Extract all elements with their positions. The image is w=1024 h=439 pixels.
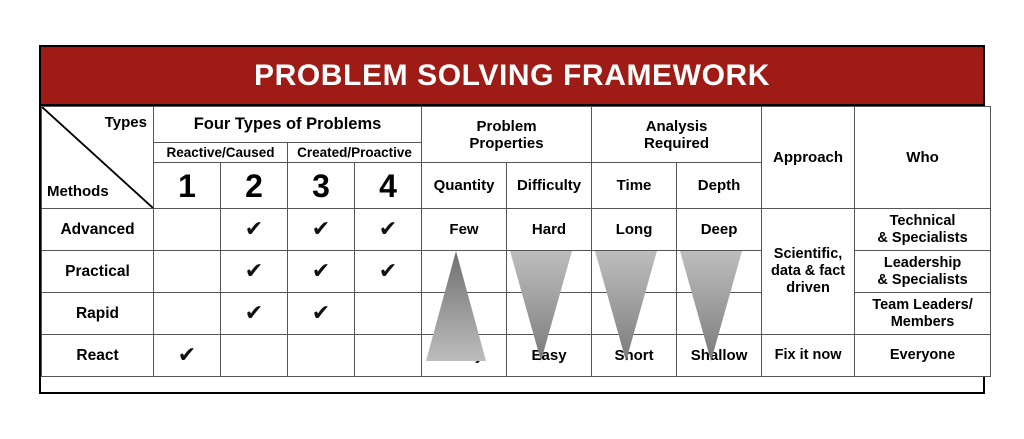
who-line1: Everyone xyxy=(855,347,990,364)
column-header-approach: Approach xyxy=(762,107,855,209)
approach-merged-cell: Scientific, data & fact driven xyxy=(762,209,855,335)
cell-practical-type2: ✔ xyxy=(221,251,288,293)
corner-types-label: Types xyxy=(105,114,147,131)
band-reactive-caused: Reactive/Caused xyxy=(154,143,288,163)
cell-advanced-type1 xyxy=(154,209,221,251)
framework-grid: Types Methods Four Types of Problems Pro… xyxy=(41,106,991,377)
cell-react-type4 xyxy=(355,335,422,377)
who-line1: Technical xyxy=(855,213,990,230)
group-header-four-types: Four Types of Problems xyxy=(154,107,422,143)
cell-react-type1: ✔ xyxy=(154,335,221,377)
who-line1: Leadership xyxy=(855,255,990,272)
row-label-react: React xyxy=(42,335,154,377)
band-created-proactive: Created/Proactive xyxy=(288,143,422,163)
framework-title-bar: PROBLEM SOLVING FRAMEWORK xyxy=(41,47,983,106)
who-practical: Leadership & Specialists xyxy=(855,251,991,293)
scale-low-difficulty xyxy=(507,293,592,335)
problem-solving-framework-table: PROBLEM SOLVING FRAMEWORK Types Methods … xyxy=(39,45,985,394)
check-icon: ✔ xyxy=(245,301,263,326)
cell-advanced-type3: ✔ xyxy=(288,209,355,251)
who-line1: Team Leaders/ xyxy=(855,297,990,314)
cell-advanced-type4: ✔ xyxy=(355,209,422,251)
cell-rapid-type1 xyxy=(154,293,221,335)
cell-practical-type1 xyxy=(154,251,221,293)
approach-line3: driven xyxy=(762,280,854,297)
column-header-depth: Depth xyxy=(677,163,762,209)
cell-practical-type3: ✔ xyxy=(288,251,355,293)
cell-react-type2 xyxy=(221,335,288,377)
scale-mid-depth xyxy=(677,251,762,293)
check-icon: ✔ xyxy=(379,217,397,242)
approach-line2: data & fact xyxy=(762,263,854,280)
scale-top-time: Long xyxy=(592,209,677,251)
cell-react-type3 xyxy=(288,335,355,377)
problem-type-3: 3 xyxy=(288,163,355,209)
who-line2: Members xyxy=(855,314,990,331)
cell-practical-type4: ✔ xyxy=(355,251,422,293)
analysis-required-line1: Analysis xyxy=(592,118,761,135)
check-icon: ✔ xyxy=(312,217,330,242)
column-header-who: Who xyxy=(855,107,991,209)
check-icon: ✔ xyxy=(245,217,263,242)
header-group-row: Types Methods Four Types of Problems Pro… xyxy=(42,107,991,143)
table-row: React ✔ Many Easy Short Shallow Fix it n… xyxy=(42,335,991,377)
cell-advanced-type2: ✔ xyxy=(221,209,288,251)
scale-top-difficulty: Hard xyxy=(507,209,592,251)
analysis-required-line2: Required xyxy=(592,135,761,152)
scale-mid-time xyxy=(592,251,677,293)
group-header-problem-properties: Problem Properties xyxy=(422,107,592,163)
column-header-quantity: Quantity xyxy=(422,163,507,209)
column-header-time: Time xyxy=(592,163,677,209)
who-react: Everyone xyxy=(855,335,991,377)
scale-bottom-quantity: Many xyxy=(422,335,507,377)
scale-low-time xyxy=(592,293,677,335)
row-label-advanced: Advanced xyxy=(42,209,154,251)
column-header-difficulty: Difficulty xyxy=(507,163,592,209)
approach-fix-it-now: Fix it now xyxy=(762,335,855,377)
scale-low-depth xyxy=(677,293,762,335)
group-header-analysis-required: Analysis Required xyxy=(592,107,762,163)
table-row: Advanced ✔ ✔ ✔ Few Hard Long Deep Scient… xyxy=(42,209,991,251)
check-icon: ✔ xyxy=(245,259,263,284)
scale-top-depth: Deep xyxy=(677,209,762,251)
page-title: PROBLEM SOLVING FRAMEWORK xyxy=(254,59,770,93)
check-icon: ✔ xyxy=(312,301,330,326)
problem-properties-line1: Problem xyxy=(422,118,591,135)
cell-rapid-type3: ✔ xyxy=(288,293,355,335)
problem-type-4: 4 xyxy=(355,163,422,209)
corner-types-methods-cell: Types Methods xyxy=(42,107,154,209)
scale-mid-difficulty xyxy=(507,251,592,293)
cell-rapid-type2: ✔ xyxy=(221,293,288,335)
approach-line1: Scientific, xyxy=(762,246,854,263)
check-icon: ✔ xyxy=(312,259,330,284)
problem-type-1: 1 xyxy=(154,163,221,209)
who-advanced: Technical & Specialists xyxy=(855,209,991,251)
row-label-rapid: Rapid xyxy=(42,293,154,335)
problem-properties-line2: Properties xyxy=(422,135,591,152)
scale-bottom-difficulty: Easy xyxy=(507,335,592,377)
who-rapid: Team Leaders/ Members xyxy=(855,293,991,335)
who-line2: & Specialists xyxy=(855,230,990,247)
check-icon: ✔ xyxy=(379,259,397,284)
check-icon: ✔ xyxy=(178,343,196,368)
scale-top-quantity: Few xyxy=(422,209,507,251)
corner-methods-label: Methods xyxy=(47,183,109,200)
scale-bottom-time: Short xyxy=(592,335,677,377)
problem-type-2: 2 xyxy=(221,163,288,209)
row-label-practical: Practical xyxy=(42,251,154,293)
who-line2: & Specialists xyxy=(855,272,990,289)
cell-rapid-type4 xyxy=(355,293,422,335)
scale-low-quantity xyxy=(422,293,507,335)
scale-mid-quantity xyxy=(422,251,507,293)
scale-bottom-depth: Shallow xyxy=(677,335,762,377)
screenshot-canvas: PROBLEM SOLVING FRAMEWORK Types Methods … xyxy=(0,0,1024,439)
